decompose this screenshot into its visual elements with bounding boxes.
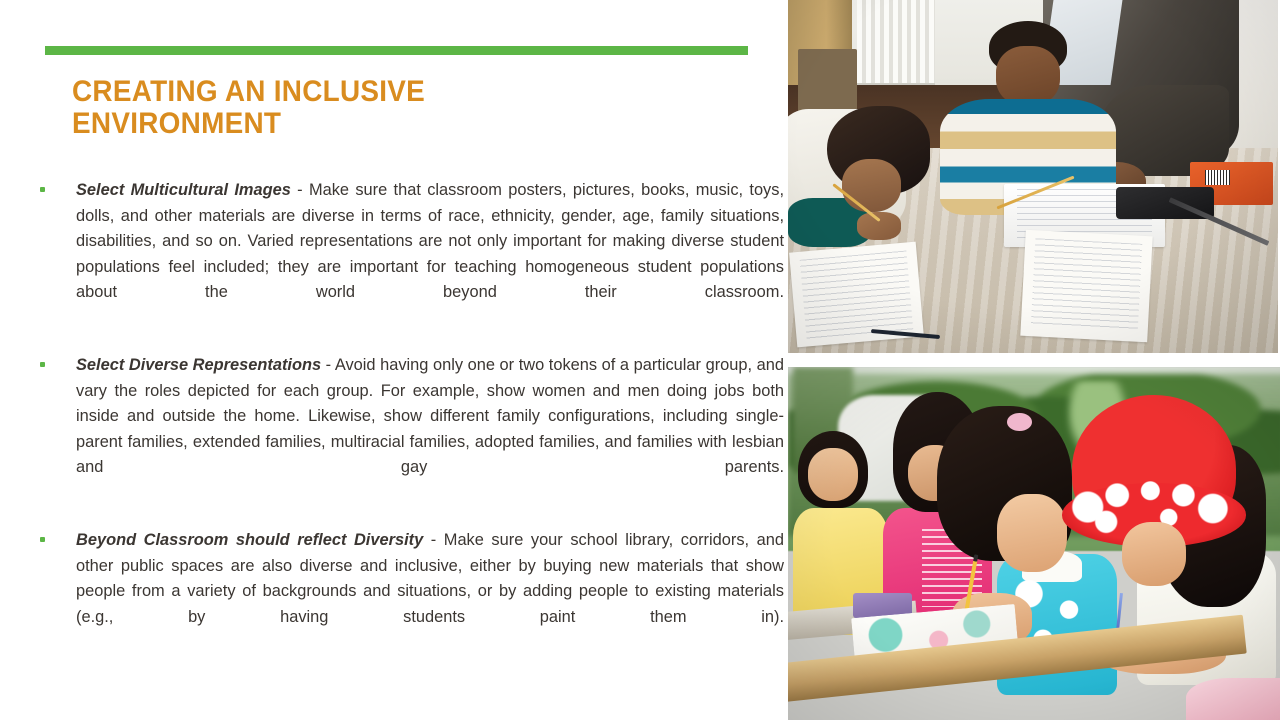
- square-bullet-icon: [40, 537, 45, 542]
- photo-scene: [788, 0, 1278, 353]
- list-item: Select Diverse Representations - Avoid h…: [36, 353, 756, 506]
- bullet-body: - Avoid having only one or two tokens of…: [76, 356, 784, 476]
- bullet-text: Beyond Classroom should reflect Diversit…: [76, 528, 784, 656]
- content-column: CREATING AN INCLUSIVE ENVIRONMENT Select…: [0, 0, 782, 720]
- bullet-lead: Select Diverse Representations: [76, 356, 321, 374]
- vignette: [788, 0, 1278, 353]
- vignette: [788, 367, 1280, 720]
- square-bullet-icon: [40, 362, 45, 367]
- page-title: CREATING AN INCLUSIVE ENVIRONMENT: [72, 76, 593, 140]
- bullet-text: Select Multicultural Images - Make sure …: [76, 178, 784, 331]
- photo-classroom-teacher: [788, 0, 1278, 353]
- photo-scene: [788, 367, 1280, 720]
- bullet-list: Select Multicultural Images - Make sure …: [36, 178, 756, 656]
- square-bullet-icon: [40, 187, 45, 192]
- list-item: Beyond Classroom should reflect Diversit…: [36, 528, 756, 656]
- photo-column: [782, 0, 1280, 720]
- photo-children-outdoors: [788, 367, 1280, 720]
- slide: CREATING AN INCLUSIVE ENVIRONMENT Select…: [0, 0, 1280, 720]
- bullet-lead: Beyond Classroom should reflect Diversit…: [76, 531, 423, 549]
- list-item: Select Multicultural Images - Make sure …: [36, 178, 756, 331]
- bullet-text: Select Diverse Representations - Avoid h…: [76, 353, 784, 506]
- accent-bar: [45, 46, 748, 55]
- bullet-lead: Select Multicultural Images: [76, 181, 291, 199]
- bullet-body: - Make sure that classroom posters, pict…: [76, 181, 784, 301]
